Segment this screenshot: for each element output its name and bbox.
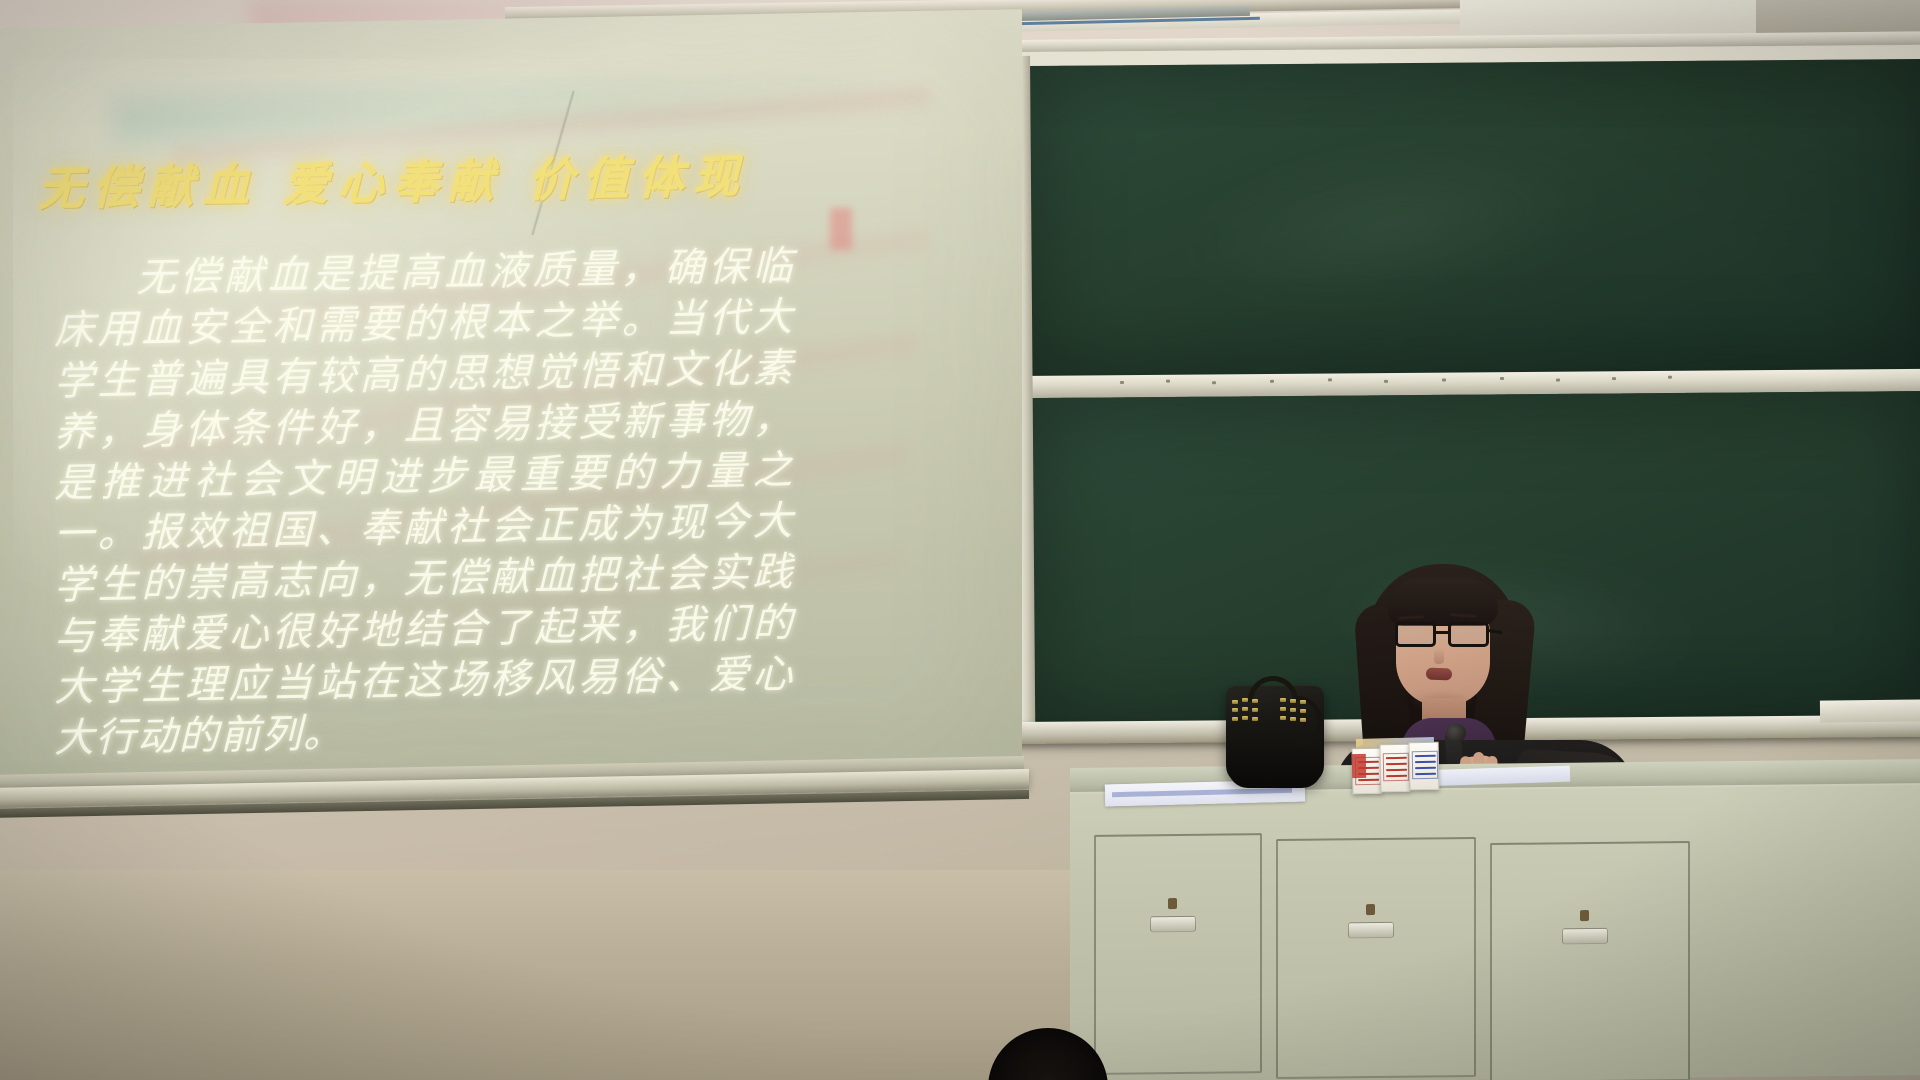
cabinet-lock	[1168, 898, 1177, 909]
cabinet-door-right[interactable]	[1490, 841, 1690, 1080]
box-red-stripe	[1352, 754, 1366, 778]
product-box	[1409, 742, 1440, 791]
handbag-studs	[1232, 698, 1318, 732]
wall-lower-section	[0, 870, 1080, 1080]
cabinet-handle[interactable]	[1562, 928, 1608, 944]
cabinet-door-center[interactable]	[1276, 837, 1476, 1079]
glasses-temple	[1488, 629, 1502, 634]
glasses-bridge	[1436, 631, 1450, 634]
podium	[1070, 768, 1920, 1080]
projected-slide: 无偿献血 爱心奉献 价值体现 无偿献血是提高血液质量，确保临床用血安全和需要的根…	[0, 9, 1002, 788]
product-box	[1380, 744, 1411, 793]
cabinet-door-left[interactable]	[1094, 833, 1262, 1075]
ceiling-panel-right	[1460, 0, 1760, 35]
slide-title: 无偿献血 爱心奉献 价值体现	[38, 140, 748, 219]
cabinet-lock	[1580, 910, 1589, 921]
box-label	[1412, 751, 1438, 779]
nose	[1434, 648, 1444, 664]
lens-right	[1448, 622, 1489, 647]
cabinet-handle[interactable]	[1150, 916, 1196, 932]
blackboard-chalk-ledge-right	[1820, 699, 1920, 722]
lecture-hall-photo: 无偿献血 爱心奉献 价值体现 无偿献血是提高血液质量，确保临床用血安全和需要的根…	[0, 0, 1920, 1080]
box-label	[1383, 753, 1409, 781]
slide-body-text: 无偿献血是提高血液质量，确保临床用血安全和需要的根本之举。当代大学生普遍具有较高…	[54, 241, 794, 765]
mouth	[1426, 668, 1452, 681]
cabinet-handle[interactable]	[1348, 922, 1394, 938]
projection-screen: 无偿献血 爱心奉献 价值体现 无偿献血是提高血液质量，确保临床用血安全和需要的根…	[0, 28, 1022, 798]
eyeglasses-icon	[1392, 622, 1496, 648]
lens-left	[1395, 622, 1436, 647]
cabinet-lock	[1366, 904, 1375, 915]
